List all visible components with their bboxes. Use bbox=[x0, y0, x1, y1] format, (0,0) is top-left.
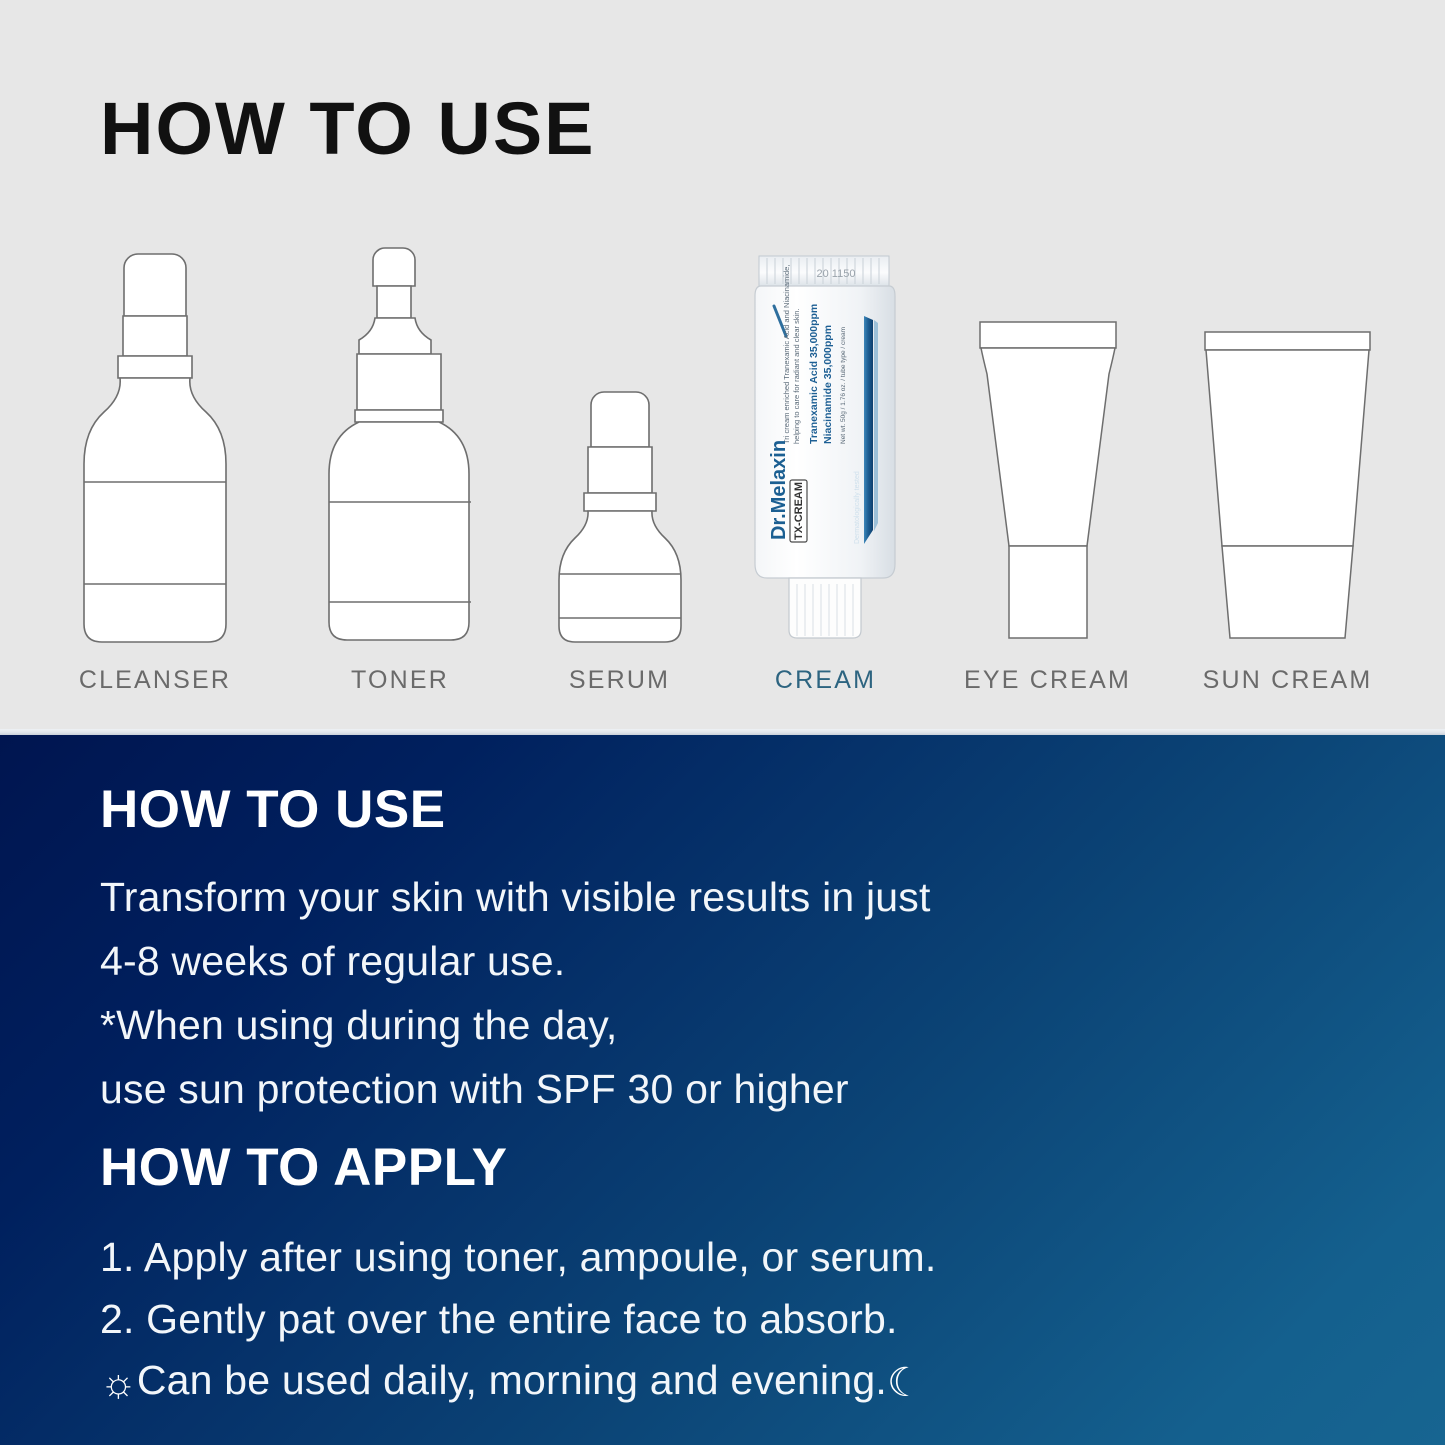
apply-line-1: 1. Apply after using toner, ampoule, or … bbox=[100, 1237, 937, 1278]
step-label-sun-cream: SUN CREAM bbox=[1203, 666, 1373, 695]
tube-ingredient-1: Tranexamic Acid 35,000ppm bbox=[808, 304, 820, 444]
cream-tube-icon: 20 1150 Tri cream enriched Tranexamic Ac… bbox=[733, 239, 918, 654]
tube-description: Tri cream enriched Tranexamic Acid and N… bbox=[782, 265, 791, 444]
step-label-serum: SERUM bbox=[569, 666, 670, 695]
use-line-3: *When using during the day, bbox=[100, 1005, 617, 1046]
step-toner[interactable]: TONER bbox=[295, 215, 505, 695]
tube-product-name: TX-CREAM bbox=[793, 482, 805, 540]
use-line-2: 4-8 weeks of regular use. bbox=[100, 941, 565, 982]
tube-ingredient-2: Niacinamide 35,000ppm bbox=[822, 325, 834, 444]
routine-steps: CLEANSER bbox=[0, 215, 1445, 695]
step-cream[interactable]: 20 1150 Tri cream enriched Tranexamic Ac… bbox=[733, 215, 918, 695]
heading-how-to-apply: HOW TO APPLY bbox=[100, 1141, 508, 1194]
step-cleanser[interactable]: CLEANSER bbox=[50, 215, 260, 695]
tube-net-weight: Net wt. 50g / 1.76 oz. / tube type / cre… bbox=[840, 327, 847, 444]
step-label-cleanser: CLEANSER bbox=[79, 666, 231, 695]
toner-bottle-icon bbox=[295, 239, 505, 654]
use-line-1: Transform your skin with visible results… bbox=[100, 877, 931, 918]
daily-usage-line: ☼Can be used daily, morning and evening.… bbox=[100, 1360, 923, 1403]
instructions-section: HOW TO USE Transform your skin with visi… bbox=[0, 735, 1445, 1445]
sun-cream-tube-icon bbox=[1180, 239, 1395, 654]
svg-text:Dermatologically tested: Dermatologically tested bbox=[854, 471, 861, 544]
routine-section: HOW TO USE bbox=[0, 0, 1445, 735]
step-label-cream: CREAM bbox=[775, 666, 876, 695]
serum-dropper-icon bbox=[527, 239, 712, 654]
eye-cream-tube-icon bbox=[945, 239, 1150, 654]
tube-brand: Dr.Melaxin bbox=[768, 440, 790, 540]
svg-text:helping to care for radiant an: helping to care for radiant and clear sk… bbox=[792, 309, 801, 445]
crimp-code: 20 1150 bbox=[816, 268, 855, 280]
step-label-eye-cream: EYE CREAM bbox=[964, 666, 1131, 695]
step-eye-cream[interactable]: EYE CREAM bbox=[945, 215, 1150, 695]
moon-icon: ☾ bbox=[887, 1363, 923, 1403]
apply-line-2: 2. Gently pat over the entire face to ab… bbox=[100, 1299, 898, 1340]
step-serum[interactable]: SERUM bbox=[527, 215, 712, 695]
page-title: HOW TO USE bbox=[100, 92, 596, 166]
step-sun-cream[interactable]: SUN CREAM bbox=[1180, 215, 1395, 695]
use-line-4: use sun protection with SPF 30 or higher bbox=[100, 1069, 849, 1110]
heading-how-to-use: HOW TO USE bbox=[100, 783, 446, 836]
step-label-toner: TONER bbox=[351, 666, 449, 695]
sun-icon: ☼ bbox=[100, 1363, 137, 1403]
dropper-bottle-icon bbox=[50, 239, 260, 654]
daily-usage-text: Can be used daily, morning and evening. bbox=[137, 1357, 887, 1403]
infographic-page: HOW TO USE bbox=[0, 0, 1445, 1445]
